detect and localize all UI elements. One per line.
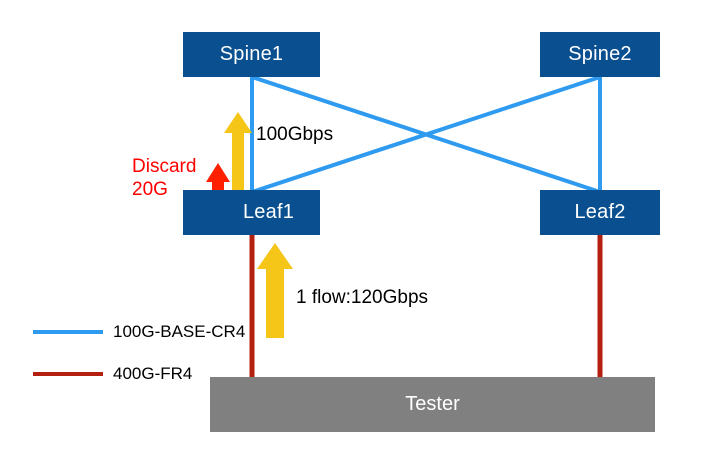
- discard-label-line1: Discard: [132, 155, 196, 178]
- node-spine1-label: Spine1: [220, 43, 283, 66]
- node-leaf1-label: Leaf1: [243, 201, 294, 224]
- node-spine1[interactable]: Spine1: [183, 32, 320, 77]
- legend-item-400g-fr4: 400G-FR4: [33, 364, 192, 384]
- node-tester-label: Tester: [405, 393, 459, 416]
- discard-label-line2: 20G: [132, 178, 196, 201]
- node-leaf1[interactable]: Leaf1: [183, 190, 320, 235]
- node-tester[interactable]: Tester: [210, 377, 655, 432]
- discard-label: Discard 20G: [132, 155, 196, 201]
- flow-arrow-tester-to-leaf1: [257, 243, 293, 338]
- legend-swatch-100g-base-cr4: [33, 330, 103, 334]
- diagram-canvas: Spine1 Spine2 Leaf1 Leaf2 Tester 100Gbps…: [0, 0, 719, 449]
- node-spine2[interactable]: Spine2: [540, 32, 660, 77]
- legend-swatch-400g-fr4: [33, 372, 103, 376]
- legend-label-100g-base-cr4: 100G-BASE-CR4: [113, 322, 245, 342]
- uplink-rate-label: 100Gbps: [256, 124, 333, 146]
- node-leaf2-label: Leaf2: [574, 201, 625, 224]
- legend-item-100g-base-cr4: 100G-BASE-CR4: [33, 322, 245, 342]
- node-leaf2[interactable]: Leaf2: [540, 190, 660, 235]
- flow-arrow-leaf1-to-spine1: [224, 112, 252, 196]
- legend-label-400g-fr4: 400G-FR4: [113, 364, 192, 384]
- flow-rate-label: 1 flow:120Gbps: [296, 287, 428, 309]
- node-spine2-label: Spine2: [568, 43, 631, 66]
